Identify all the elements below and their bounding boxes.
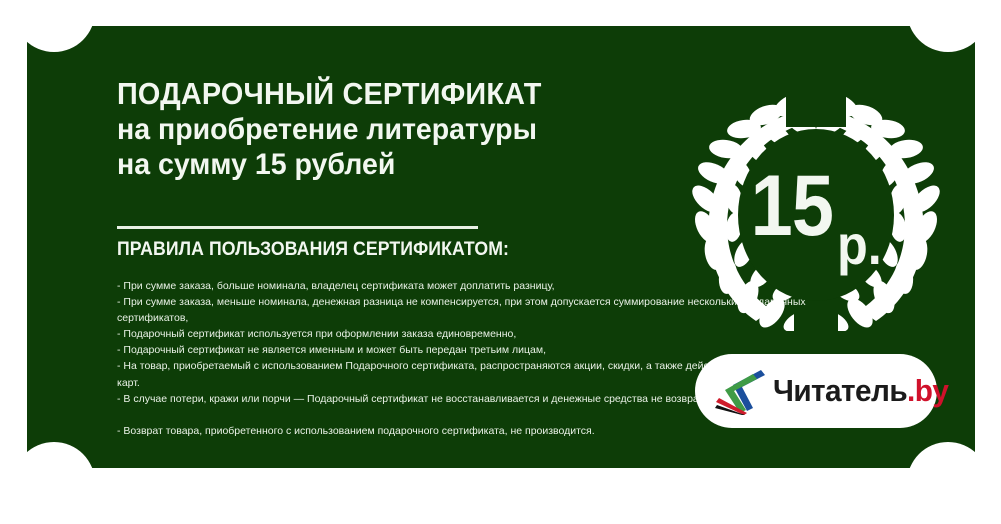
gift-certificate: ПОДАРОЧНЫЙ СЕРТИФИКАТ на приобретение ли… [0,0,1001,494]
headline-line-1: ПОДАРОЧНЫЙ СЕРТИФИКАТ [117,78,601,111]
brand-name: Читатель.by [773,373,948,409]
rule-item: - Подарочный сертификат не является имен… [117,342,807,358]
rule-item: - Возврат товара, приобретенного с испол… [117,423,807,439]
rules-heading: ПРАВИЛА ПОЛЬЗОВАНИЯ СЕРТИФИКАТОМ: [117,239,509,261]
amount-value: 15 р. [690,81,942,331]
headline-divider [117,226,478,229]
certificate-content: ПОДАРОЧНЫЙ СЕРТИФИКАТ на приобретение ли… [27,26,975,468]
certificate-card: ПОДАРОЧНЫЙ СЕРТИФИКАТ на приобретение ли… [27,26,975,468]
headline-line-3: на сумму 15 рублей [117,148,611,183]
certificate-headline: ПОДАРОЧНЫЙ СЕРТИФИКАТ на приобретение ли… [117,78,637,182]
amount-number: 15 [751,163,833,249]
brand-domain-text: .by [907,373,948,408]
amount-currency: р. [837,217,882,273]
amount-medallion: 15 р. [690,81,942,331]
headline-line-2: на приобретение литературы [117,113,611,148]
brand-name-text: Читатель [773,373,907,408]
open-book-icon [713,367,769,415]
brand-logo[interactable]: Читатель.by [695,354,937,428]
